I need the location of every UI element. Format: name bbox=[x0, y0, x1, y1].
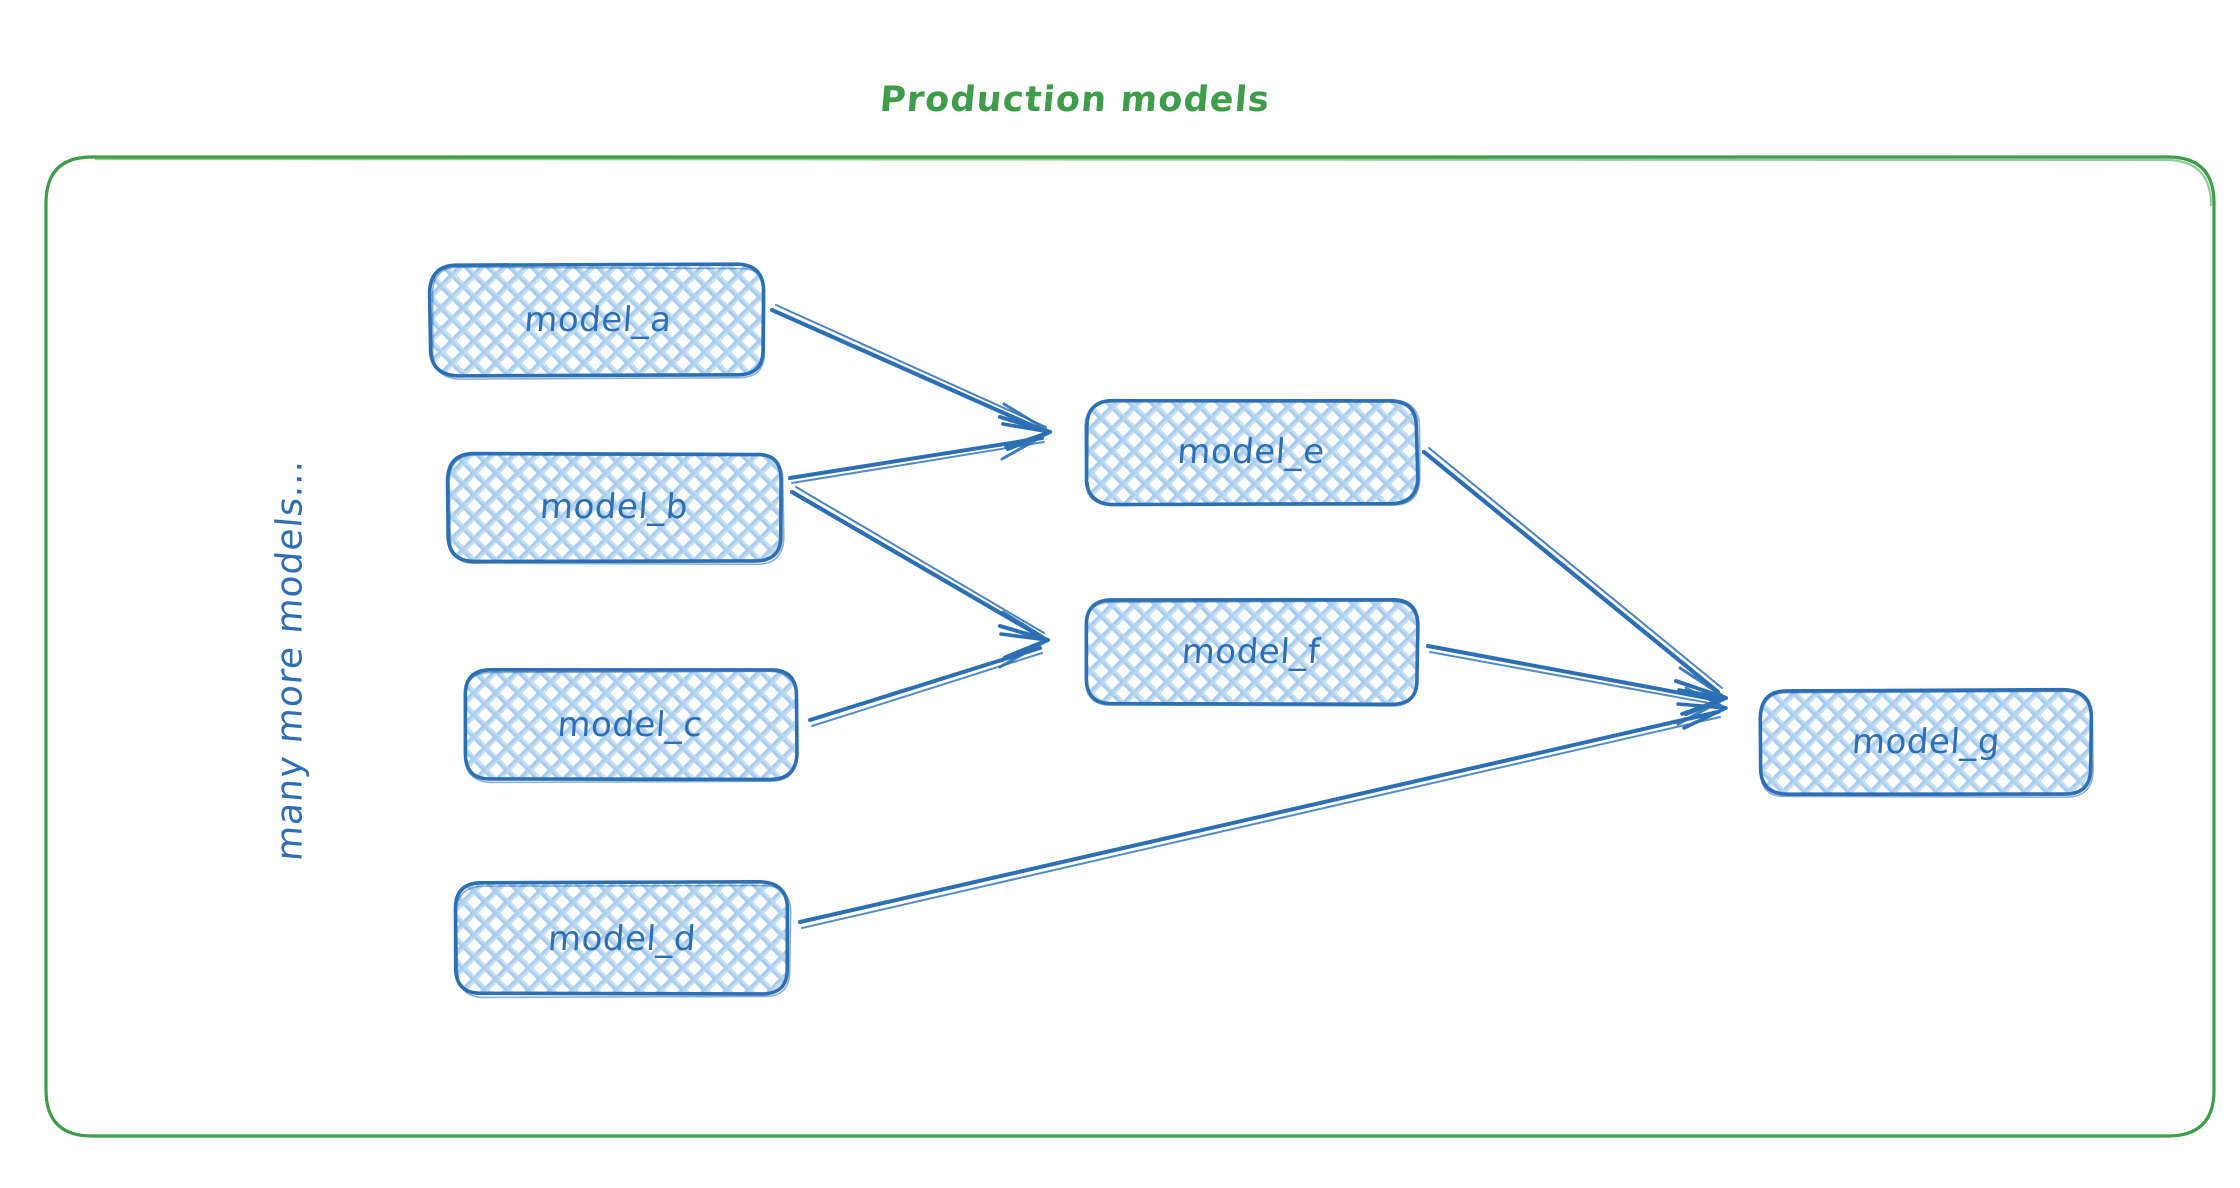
node-model_b[interactable] bbox=[448, 454, 784, 565]
edge-model_d-model_g bbox=[800, 688, 1726, 928]
node-group bbox=[430, 264, 2094, 997]
side-note-many-more-models: many more models... bbox=[270, 457, 311, 862]
edge-model_e-model_g bbox=[1424, 448, 1726, 724]
diagram-graphics bbox=[0, 0, 2240, 1188]
edge-model_b-model_f bbox=[792, 487, 1048, 667]
node-model_g[interactable] bbox=[1759, 690, 2093, 797]
node-model_d[interactable] bbox=[455, 882, 790, 998]
node-model_e[interactable] bbox=[1085, 400, 1420, 505]
diagram-canvas: Production models bbox=[0, 0, 2240, 1188]
edge-model_c-model_f bbox=[810, 634, 1048, 726]
diagram-scene: many more models... model_amodel_bmodel_… bbox=[0, 0, 2240, 1188]
edge-model_a-model_e bbox=[772, 305, 1050, 459]
node-model_f[interactable] bbox=[1086, 600, 1418, 706]
node-model_c[interactable] bbox=[465, 670, 798, 783]
node-model_a[interactable] bbox=[430, 264, 765, 379]
